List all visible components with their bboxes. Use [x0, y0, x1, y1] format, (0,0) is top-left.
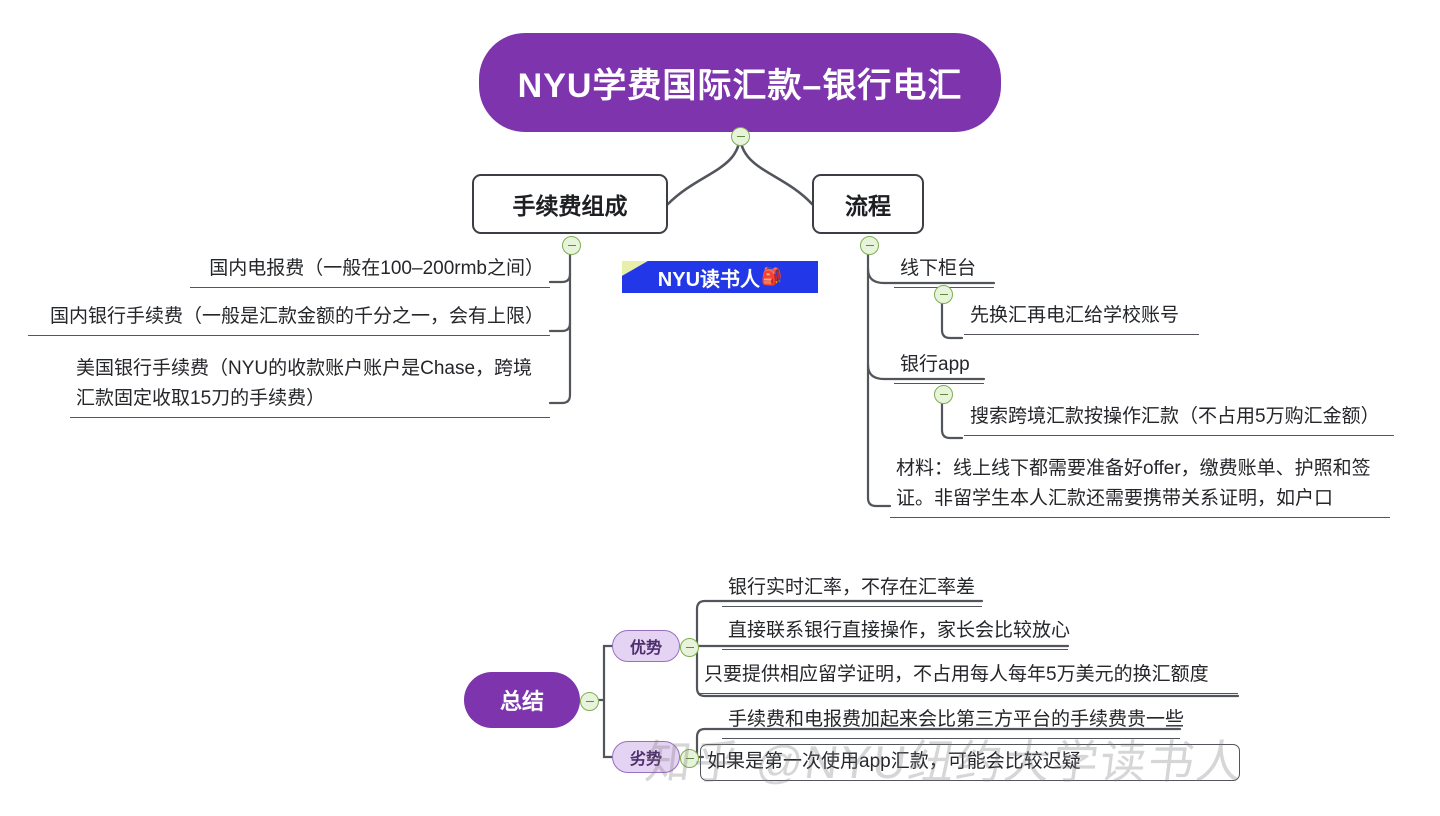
summary-node[interactable]: 总结 [464, 672, 580, 728]
leaf-flow-offline-counter[interactable]: 线下柜台 [894, 252, 994, 288]
summary-node-label: 总结 [500, 684, 544, 716]
leaf-text: 如果是第一次使用app汇款，可能会比较迟疑 [701, 745, 1239, 780]
leaf-fees-us-bank[interactable]: 美国银行手续费（NYU的收款账户账户是Chase，跨境汇款固定收取15刀的手续费… [70, 352, 550, 418]
leaf-text: 国内银行手续费（一般是汇款金额的千分之一，会有上限） [28, 300, 550, 335]
leaf-pros-item-3[interactable]: 只要提供相应留学证明，不占用每人每年5万美元的换汇额度 [698, 658, 1238, 694]
leaf-flow-offline-counter-sub[interactable]: 先换汇再电汇给学校账号 [964, 299, 1199, 335]
collapse-toggle-bank-app[interactable] [934, 385, 953, 404]
leaf-fees-telegraph[interactable]: 国内电报费（一般在100–200rmb之间） [190, 252, 550, 288]
leaf-text: 银行app [894, 348, 984, 383]
minus-circle-icon [737, 136, 745, 138]
leaf-pros-item-2[interactable]: 直接联系银行直接操作，家长会比较放心 [722, 614, 1068, 650]
edge-fees-child-2 [550, 323, 570, 331]
collapse-toggle-cons[interactable] [680, 749, 699, 768]
leaf-fees-domestic-bank[interactable]: 国内银行手续费（一般是汇款金额的千分之一，会有上限） [28, 300, 550, 336]
collapse-toggle-summary[interactable] [580, 692, 599, 711]
summary-group-pros-label: 优势 [630, 634, 662, 658]
collapse-toggle-root[interactable] [731, 127, 750, 146]
edge-summary-fork [604, 646, 612, 757]
leaf-text: 先换汇再电汇给学校账号 [964, 299, 1199, 334]
minus-circle-icon [866, 245, 874, 247]
nyu-reader-banner: NYU读书人 🎒 [622, 261, 818, 293]
summary-group-pros[interactable]: 优势 [612, 630, 680, 662]
leaf-cons-item-2[interactable]: 如果是第一次使用app汇款，可能会比较迟疑 [700, 744, 1240, 781]
branch-node-fees-label: 手续费组成 [513, 187, 628, 221]
branch-node-flow-label: 流程 [845, 187, 891, 221]
branch-node-fees[interactable]: 手续费组成 [472, 174, 668, 234]
leaf-text: 线下柜台 [894, 252, 994, 287]
branch-node-flow[interactable]: 流程 [812, 174, 924, 234]
leaf-text: 手续费和电报费加起来会比第三方平台的手续费贵一些 [722, 703, 1180, 738]
edge-root-to-fees [668, 134, 740, 204]
edge-root-to-flow [740, 134, 812, 204]
collapse-toggle-flow[interactable] [860, 236, 879, 255]
leaf-text: 银行实时汇率，不存在汇率差 [722, 571, 982, 606]
leaf-flow-bank-app-sub[interactable]: 搜索跨境汇款按操作汇款（不占用5万购汇金额） [964, 400, 1394, 436]
leaf-flow-materials[interactable]: 材料：线上线下都需要准备好offer，缴费账单、护照和签证。非留学生本人汇款还需… [890, 452, 1390, 518]
leaf-cons-item-1[interactable]: 手续费和电报费加起来会比第三方平台的手续费贵一些 [722, 703, 1180, 739]
collapse-toggle-offline-counter[interactable] [934, 285, 953, 304]
root-node-label: NYU学费国际汇款–银行电汇 [518, 58, 963, 107]
summary-group-cons-label: 劣势 [630, 745, 662, 769]
edge-fees-child-3 [550, 395, 570, 403]
minus-circle-icon [940, 394, 948, 396]
root-node[interactable]: NYU学费国际汇款–银行电汇 [479, 33, 1001, 132]
minus-circle-icon [568, 245, 576, 247]
leaf-text: 美国银行手续费（NYU的收款账户账户是Chase，跨境汇款固定收取15刀的手续费… [70, 352, 550, 417]
summary-group-cons[interactable]: 劣势 [612, 741, 680, 773]
leaf-pros-item-1[interactable]: 银行实时汇率，不存在汇率差 [722, 571, 982, 607]
minus-circle-icon [686, 758, 694, 760]
edge-fees-child-1 [550, 274, 570, 282]
collapse-toggle-fees[interactable] [562, 236, 581, 255]
backpack-icon: 🎒 [761, 267, 782, 287]
minus-circle-icon [586, 701, 594, 703]
minus-circle-icon [686, 647, 694, 649]
leaf-flow-bank-app[interactable]: 银行app [894, 348, 984, 384]
leaf-text: 材料：线上线下都需要准备好offer，缴费账单、护照和签证。非留学生本人汇款还需… [890, 452, 1390, 517]
highlight-stroke-icon [622, 261, 658, 279]
minus-circle-icon [940, 294, 948, 296]
collapse-toggle-pros[interactable] [680, 638, 699, 657]
mindmap-canvas: NYU学费国际汇款–银行电汇 手续费组成 国内电报费（一般在100–200rmb… [0, 0, 1440, 816]
leaf-text: 直接联系银行直接操作，家长会比较放心 [722, 614, 1068, 649]
nyu-reader-banner-label: NYU读书人 [658, 263, 760, 292]
leaf-text: 搜索跨境汇款按操作汇款（不占用5万购汇金额） [964, 400, 1394, 435]
leaf-text: 国内电报费（一般在100–200rmb之间） [190, 252, 550, 287]
leaf-text: 只要提供相应留学证明，不占用每人每年5万美元的换汇额度 [698, 658, 1238, 693]
edge-flow-child-3 [868, 498, 890, 506]
